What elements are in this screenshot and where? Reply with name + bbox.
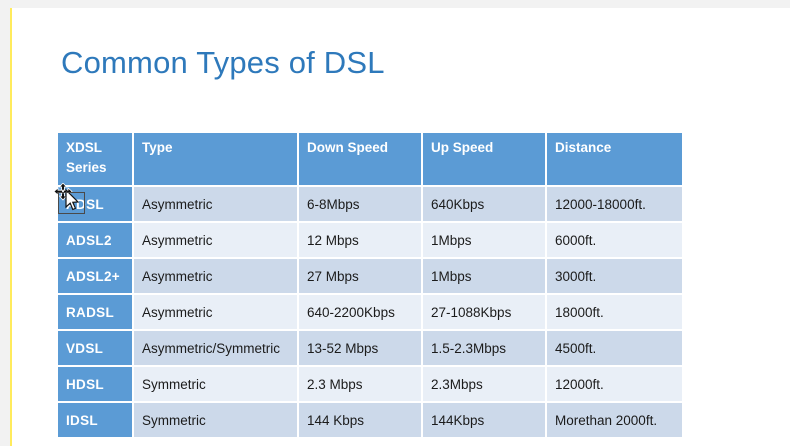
cell-up-speed: 144Kbps [423,403,547,439]
cell-up-speed: 1Mbps [423,259,547,295]
top-edge-strip [0,0,790,8]
column-header-distance: Distance [547,133,682,187]
cell-distance: 12000ft. [547,367,682,403]
cell-down-speed: 13-52 Mbps [299,331,423,367]
cell-type: Asymmetric [134,259,299,295]
column-header-xdsl-series-line1: XDSL [66,140,102,155]
cell-down-speed: 144 Kbps [299,403,423,439]
table-header-row: XDSL Series Type Down Speed Up Speed Dis… [58,133,682,187]
cell-series: HDSL [58,367,134,403]
slide-accent-rule [10,8,12,446]
cell-series: ADSL2+ [58,259,134,295]
cell-distance: 4500ft. [547,331,682,367]
cell-type: Asymmetric/Symmetric [134,331,299,367]
dsl-comparison-table: XDSL Series Type Down Speed Up Speed Dis… [58,133,682,439]
cell-down-speed: 2.3 Mbps [299,367,423,403]
cell-type: Symmetric [134,403,299,439]
cell-up-speed: 1.5-2.3Mbps [423,331,547,367]
slide-canvas: Common Types of DSL XDSL Series Type Dow… [0,0,790,446]
table-row: HDSLSymmetric2.3 Mbps2.3Mbps12000ft. [58,367,682,403]
cell-series: ADSL2 [58,223,134,259]
table-row: IDSLSymmetric144 Kbps144KbpsMorethan 200… [58,403,682,439]
column-header-xdsl-series-line2: Series [66,160,124,175]
cell-up-speed: 1Mbps [423,223,547,259]
cell-up-speed: 2.3Mbps [423,367,547,403]
cell-series: ADSL [58,187,134,223]
table-row: ADSL2+Asymmetric27 Mbps1Mbps3000ft. [58,259,682,295]
column-header-type: Type [134,133,299,187]
table-row: RADSLAsymmetric640-2200Kbps27-1088Kbps18… [58,295,682,331]
cell-series: VDSL [58,331,134,367]
cell-down-speed: 12 Mbps [299,223,423,259]
cell-type: Symmetric [134,367,299,403]
cell-distance: 6000ft. [547,223,682,259]
cell-up-speed: 27-1088Kbps [423,295,547,331]
cell-up-speed: 640Kbps [423,187,547,223]
cell-down-speed: 27 Mbps [299,259,423,295]
cell-type: Asymmetric [134,223,299,259]
cell-down-speed: 6-8Mbps [299,187,423,223]
page-title: Common Types of DSL [61,45,385,81]
table-row: VDSLAsymmetric/Symmetric13-52 Mbps1.5-2.… [58,331,682,367]
cell-distance: Morethan 2000ft. [547,403,682,439]
left-edge-gutter [0,8,10,446]
cell-distance: 18000ft. [547,295,682,331]
cell-series: RADSL [58,295,134,331]
column-header-down-speed: Down Speed [299,133,423,187]
cell-type: Asymmetric [134,187,299,223]
table-row: ADSL2Asymmetric12 Mbps1Mbps6000ft. [58,223,682,259]
table-body: ADSLAsymmetric6-8Mbps640Kbps12000-18000f… [58,187,682,439]
cell-distance: 12000-18000ft. [547,187,682,223]
column-header-xdsl-series: XDSL Series [58,133,134,187]
cell-distance: 3000ft. [547,259,682,295]
cell-series: IDSL [58,403,134,439]
column-header-up-speed: Up Speed [423,133,547,187]
cell-down-speed: 640-2200Kbps [299,295,423,331]
cell-type: Asymmetric [134,295,299,331]
table-row: ADSLAsymmetric6-8Mbps640Kbps12000-18000f… [58,187,682,223]
